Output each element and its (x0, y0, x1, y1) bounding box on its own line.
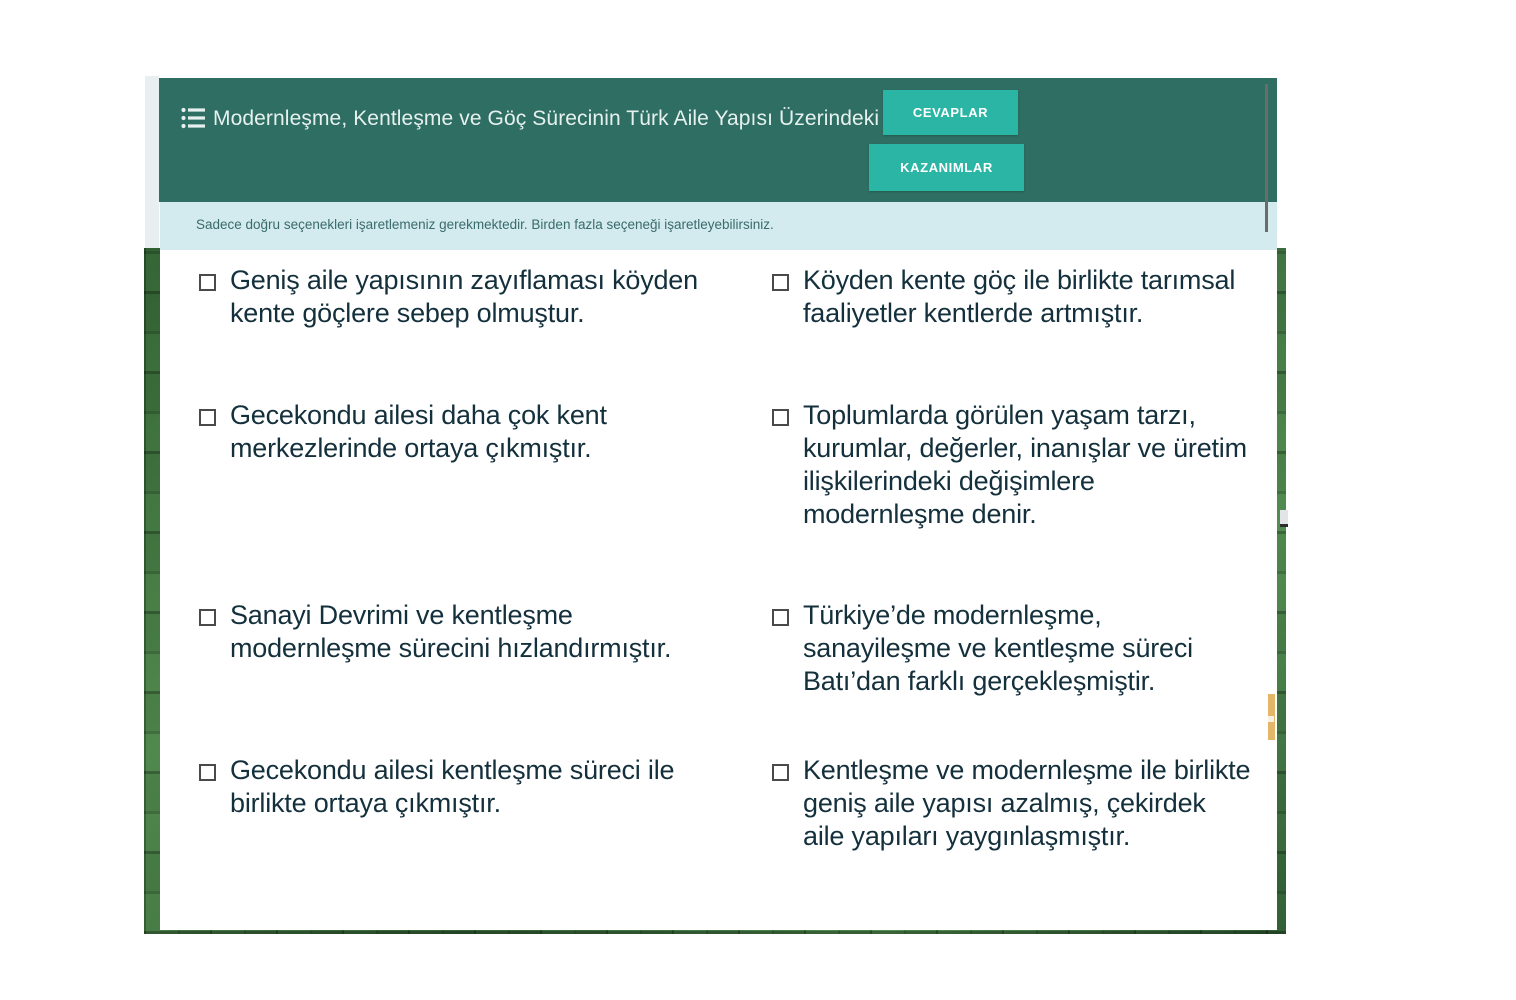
options-column-right: Köyden kente göç ile birlikte tarımsal f… (759, 260, 1251, 853)
option-label: Köyden kente göç ile birlikte tarımsal f… (803, 262, 1251, 330)
option-label: Gecekondu ailesi kentleşme süreci ile bi… (230, 752, 731, 820)
task-list-icon (181, 107, 205, 129)
option-item[interactable]: Geniş aile yapısının zayıflaması köyden … (186, 262, 731, 397)
option-label: Türkiye’de modernleşme, sanayileşme ve k… (803, 597, 1251, 698)
edge-artifact-amber-highlight (1268, 716, 1274, 722)
checkbox-option-4[interactable] (199, 764, 216, 781)
header-actions: CEVAPLAR KAZANIMLAR (869, 90, 1129, 191)
option-label: Geniş aile yapısının zayıflaması köyden … (230, 262, 731, 330)
checkbox-option-1[interactable] (199, 274, 216, 291)
answers-card: Geniş aile yapısının zayıflaması köyden … (160, 250, 1277, 930)
option-label: Toplumlarda görülen yaşam tarzı, kurumla… (803, 397, 1251, 531)
vertical-scrollbar[interactable] (1265, 84, 1268, 232)
edge-artifact-underline (1280, 524, 1288, 527)
edge-artifact-marker (1280, 510, 1288, 524)
instruction-bar: Sadece doğru seçenekleri işaretlemeniz g… (160, 202, 1277, 250)
option-item[interactable]: Köyden kente göç ile birlikte tarımsal f… (759, 262, 1251, 397)
option-item[interactable]: Sanayi Devrimi ve kentleşme modernleşme … (186, 597, 731, 752)
option-item[interactable]: Kentleşme ve modernleşme ile birlikte ge… (759, 752, 1251, 853)
option-label: Kentleşme ve modernleşme ile birlikte ge… (803, 752, 1251, 853)
objectives-button[interactable]: KAZANIMLAR (869, 144, 1024, 191)
checkbox-option-3[interactable] (199, 609, 216, 626)
checkbox-option-5[interactable] (772, 274, 789, 291)
option-label: Sanayi Devrimi ve kentleşme modernleşme … (230, 597, 731, 665)
option-label: Gecekondu ailesi daha çok kent merkezler… (230, 397, 731, 465)
checkbox-option-2[interactable] (199, 409, 216, 426)
options-grid: Geniş aile yapısının zayıflaması köyden … (186, 260, 1251, 853)
answers-button[interactable]: CEVAPLAR (883, 90, 1018, 135)
checkbox-option-7[interactable] (772, 609, 789, 626)
checkbox-option-8[interactable] (772, 764, 789, 781)
page-root: Modernleşme, Kentleşme ve Göç Sürecinin … (0, 0, 1516, 1000)
quiz-header: Modernleşme, Kentleşme ve Göç Sürecinin … (159, 78, 1277, 202)
checkbox-option-6[interactable] (772, 409, 789, 426)
option-item[interactable]: Toplumlarda görülen yaşam tarzı, kurumla… (759, 397, 1251, 597)
option-item[interactable]: Türkiye’de modernleşme, sanayileşme ve k… (759, 597, 1251, 752)
page-title: Modernleşme, Kentleşme ve Göç Sürecinin … (213, 100, 949, 137)
header-title-row: Modernleşme, Kentleşme ve Göç Sürecinin … (181, 100, 971, 137)
quiz-container: Modernleşme, Kentleşme ve Göç Sürecinin … (145, 76, 1285, 934)
options-column-left: Geniş aile yapısının zayıflaması köyden … (186, 260, 731, 853)
option-item[interactable]: Gecekondu ailesi kentleşme süreci ile bi… (186, 752, 731, 820)
option-item[interactable]: Gecekondu ailesi daha çok kent merkezler… (186, 397, 731, 597)
instruction-text: Sadece doğru seçenekleri işaretlemeniz g… (196, 217, 774, 232)
